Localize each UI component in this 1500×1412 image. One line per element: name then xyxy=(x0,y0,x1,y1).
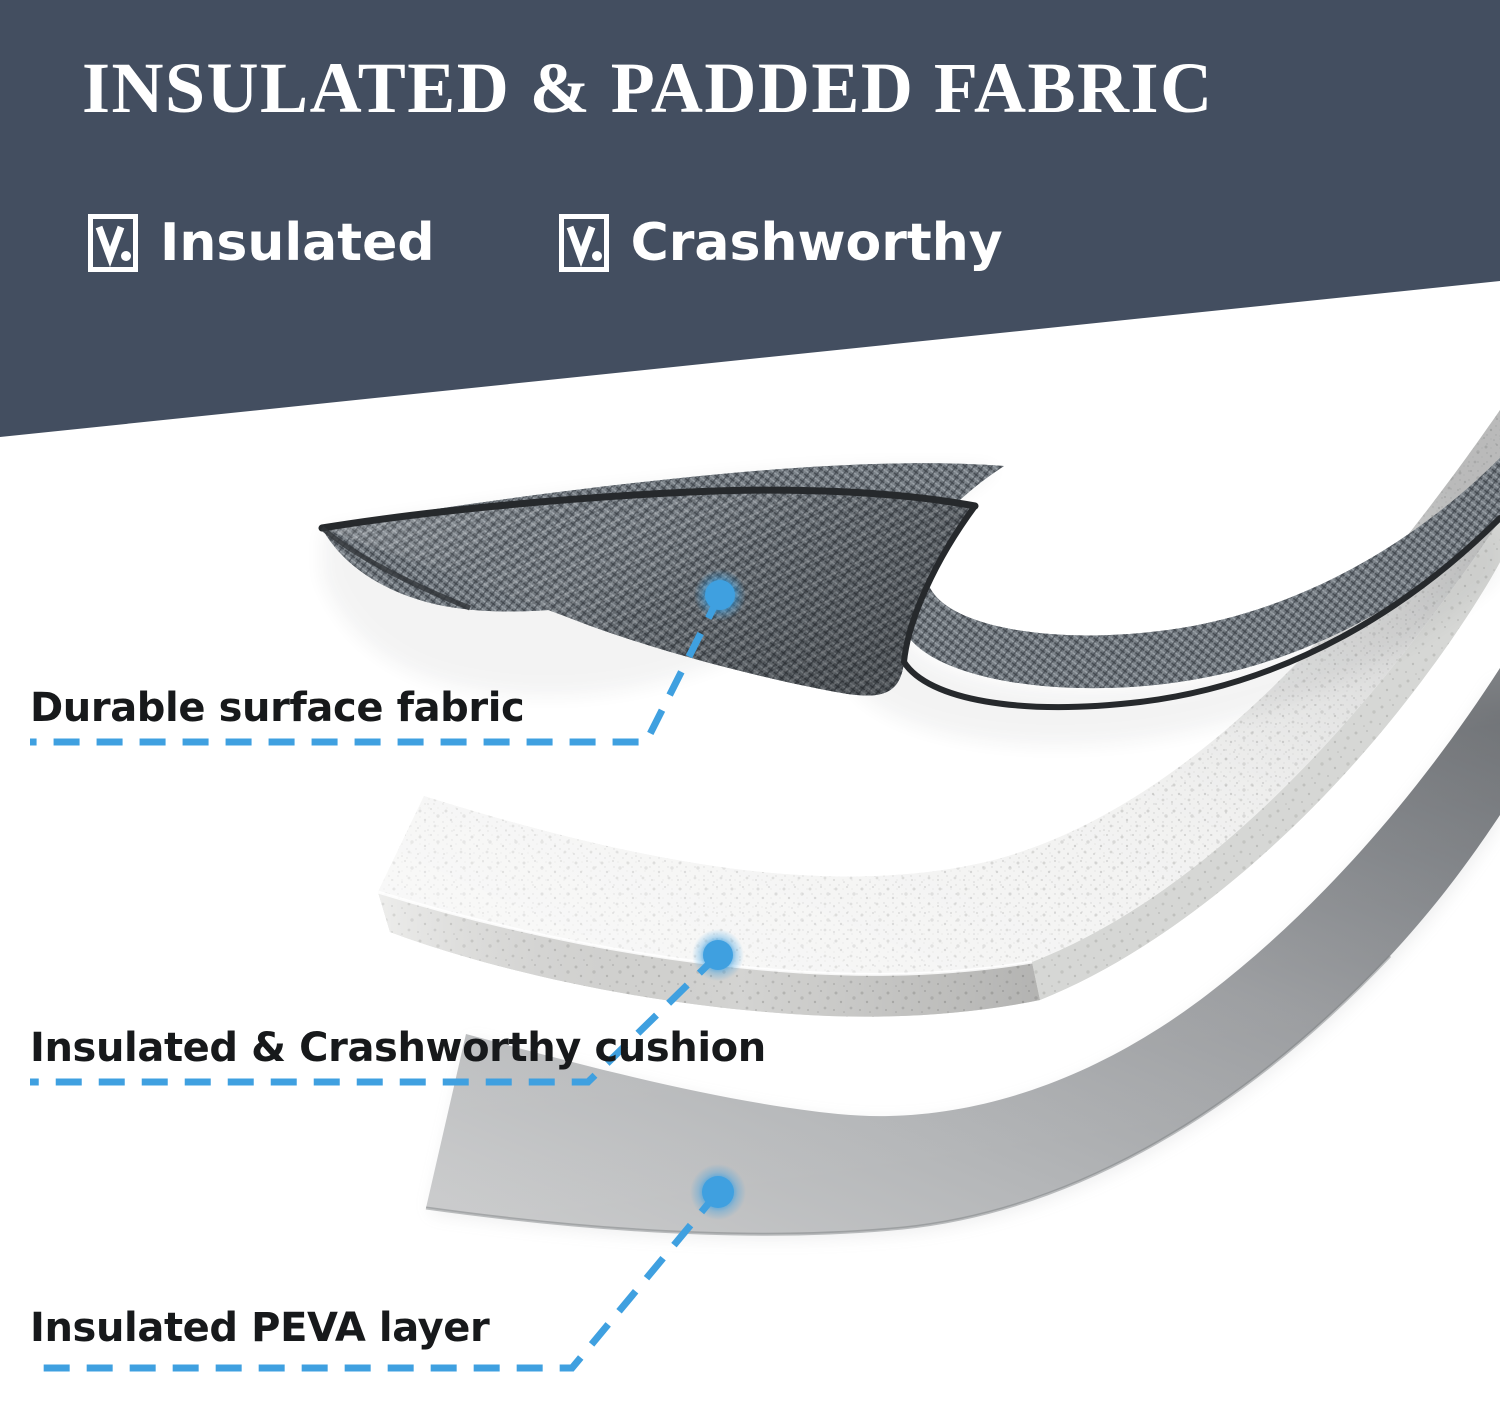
callout-label-peva-layer: Insulated PEVA layer xyxy=(30,1308,489,1348)
feature-item-insulated: Insulated xyxy=(88,214,435,272)
page-title: INSULATED & PADDED FABRIC xyxy=(82,52,1412,124)
product-infographic: INSULATED & PADDED FABRIC Insulated xyxy=(0,0,1500,1412)
feature-list: Insulated Crashworthy xyxy=(88,214,1003,272)
feature-item-crashworthy: Crashworthy xyxy=(559,214,1003,272)
feature-label: Crashworthy xyxy=(631,217,1003,269)
checkbox-v-icon xyxy=(559,214,609,272)
callout-label-cushion: Insulated & Crashworthy cushion xyxy=(30,1028,766,1068)
checkbox-v-icon xyxy=(88,214,138,272)
callout-label-surface-fabric: Durable surface fabric xyxy=(30,688,524,728)
material-layers-illustration xyxy=(0,380,1500,1412)
feature-label: Insulated xyxy=(160,217,435,269)
